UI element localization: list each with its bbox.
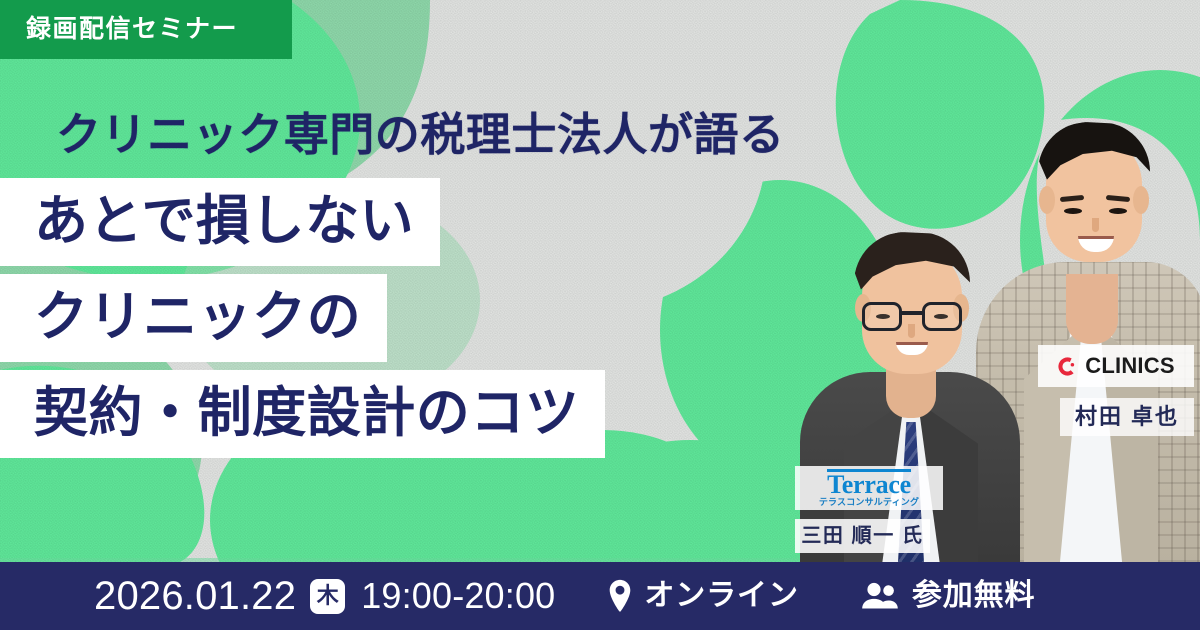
event-place-group: オンライン	[607, 579, 799, 613]
headline-row: 契約・制度設計のコツ	[0, 370, 820, 458]
seminar-type-label: 録画配信セミナー	[26, 17, 238, 42]
terrace-wordmark: Terrace	[827, 469, 911, 498]
headline-line-2: クリニックの	[0, 274, 387, 362]
terrace-logo-plate: Terrace テラスコンサルティング	[795, 466, 943, 510]
event-fee: 参加無料	[912, 581, 1036, 611]
clinics-c-mark-icon	[1057, 356, 1078, 377]
people-icon	[861, 582, 899, 610]
headline-row: あとで損しない	[0, 178, 820, 266]
speaker-photo-mita	[800, 232, 1020, 562]
terrace-subtext: テラスコンサルティング	[819, 498, 919, 507]
event-place: オンライン	[644, 581, 799, 611]
event-time: 19:00-20:00	[361, 578, 555, 614]
date-time-group: 2026.01.22 木 19:00-20:00	[0, 576, 555, 616]
speaker-name-murata: 村田 卓也	[1075, 406, 1179, 428]
event-date: 2026.01.22	[94, 576, 296, 616]
headline-lead: クリニック専門の税理士法人が語る	[0, 110, 820, 160]
speaker-name-plate-mita: 三田 順一 氏	[795, 519, 930, 553]
speaker-name-plate-murata: 村田 卓也	[1060, 398, 1194, 436]
headline-block: クリニック専門の税理士法人が語る あとで損しない クリニックの 契約・制度設計の…	[0, 110, 820, 458]
clinics-wordmark: CLINICS	[1085, 355, 1175, 377]
speaker-name-mita: 三田 順一 氏	[801, 526, 923, 546]
event-fee-group: 参加無料	[861, 581, 1036, 611]
seminar-banner: 録画配信セミナー クリニック専門の税理士法人が語る あとで損しない クリニックの…	[0, 0, 1200, 630]
event-day-badge: 木	[310, 579, 345, 614]
event-info-footer: 2026.01.22 木 19:00-20:00 オンライン 参加無料	[0, 562, 1200, 630]
location-pin-icon	[607, 579, 633, 613]
headline-line-1: あとで損しない	[0, 178, 440, 266]
headline-line-3: 契約・制度設計のコツ	[0, 370, 605, 458]
headline-row: クリニックの	[0, 274, 820, 362]
clinics-logo-plate: CLINICS	[1038, 345, 1194, 387]
seminar-type-badge: 録画配信セミナー	[0, 0, 292, 59]
